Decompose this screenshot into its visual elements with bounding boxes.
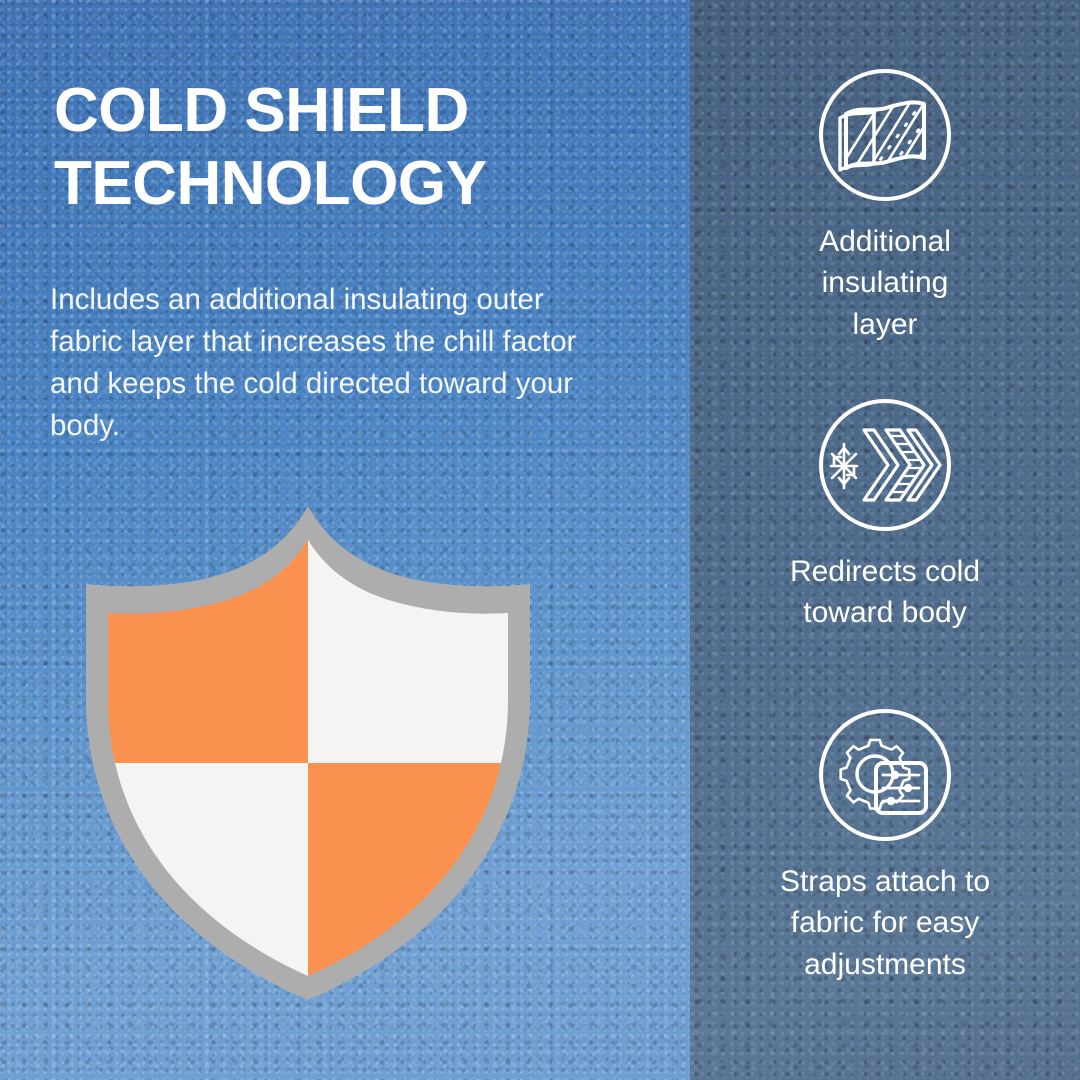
feature-label: Straps attach to fabric for easy adjustm… xyxy=(690,861,1080,985)
shield-quadrant-top-left xyxy=(78,498,308,763)
feature-label: Redirects cold toward body xyxy=(690,551,1080,634)
feature-item-straps-attach: Straps attach to fabric for easy adjustm… xyxy=(690,702,1080,985)
cold-shield-emblem xyxy=(78,498,538,1008)
fabric-layer-icon xyxy=(812,62,958,208)
page-title: COLD SHIELD TECHNOLOGY xyxy=(54,74,654,220)
description-text: Includes an additional insulating outer … xyxy=(50,279,620,447)
feature-item-redirects-cold: Redirects cold toward body xyxy=(690,392,1080,634)
infographic-canvas: COLD SHIELD TECHNOLOGY Includes an addit… xyxy=(0,0,1080,1080)
feature-item-additional-insulating-layer: Additional insulating layer xyxy=(690,62,1080,345)
cold-redirect-layers-icon xyxy=(812,392,958,538)
gear-settings-icon xyxy=(812,702,958,848)
shield-quadrant-top-right xyxy=(308,498,538,763)
feature-label: Additional insulating layer xyxy=(690,221,1080,345)
